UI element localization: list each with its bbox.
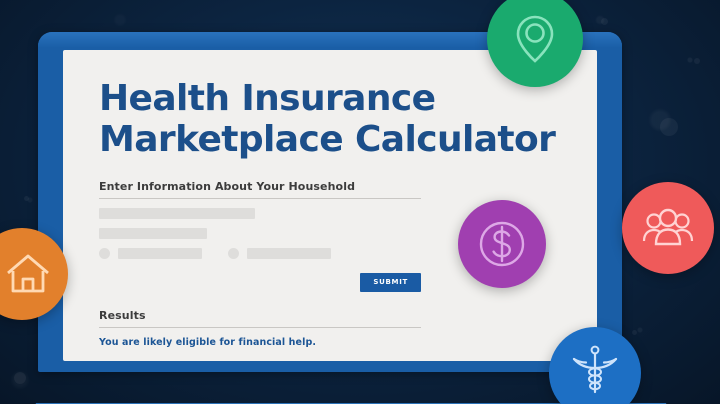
caduceus-icon [570, 342, 620, 398]
radio-button-icon[interactable] [99, 248, 110, 259]
eligibility-message: You are likely eligible for financial he… [99, 337, 561, 348]
input-placeholder-bar[interactable] [99, 208, 255, 219]
input-placeholder-bar[interactable] [99, 228, 207, 239]
home-icon [4, 252, 52, 296]
bokeh-speck [632, 330, 637, 335]
map-pin-icon [512, 13, 558, 65]
bubble-medical[interactable] [549, 327, 641, 404]
bokeh-speck [660, 118, 678, 136]
page-title-line2: Marketplace Calculator [99, 119, 561, 160]
bokeh-speck [14, 372, 26, 384]
radio-label-placeholder-bar[interactable] [118, 248, 202, 259]
bokeh-speck [694, 58, 700, 64]
people-group-icon [641, 208, 695, 248]
dollar-coin-icon [474, 216, 530, 272]
bubble-household[interactable] [622, 182, 714, 274]
bokeh-speck [24, 196, 29, 201]
submit-button[interactable]: SUBMIT [360, 273, 421, 292]
poster-canvas: Health Insurance Marketplace Calculator … [0, 0, 720, 404]
bubble-income[interactable] [458, 200, 546, 288]
results-heading: Results [99, 309, 421, 328]
radio-label-placeholder-bar[interactable] [247, 248, 331, 259]
household-form-heading: Enter Information About Your Household [99, 180, 421, 199]
page-title-line1: Health Insurance [99, 78, 561, 119]
bokeh-speck [601, 18, 608, 25]
submit-row: SUBMIT [99, 273, 421, 295]
radio-button-icon[interactable] [228, 248, 239, 259]
